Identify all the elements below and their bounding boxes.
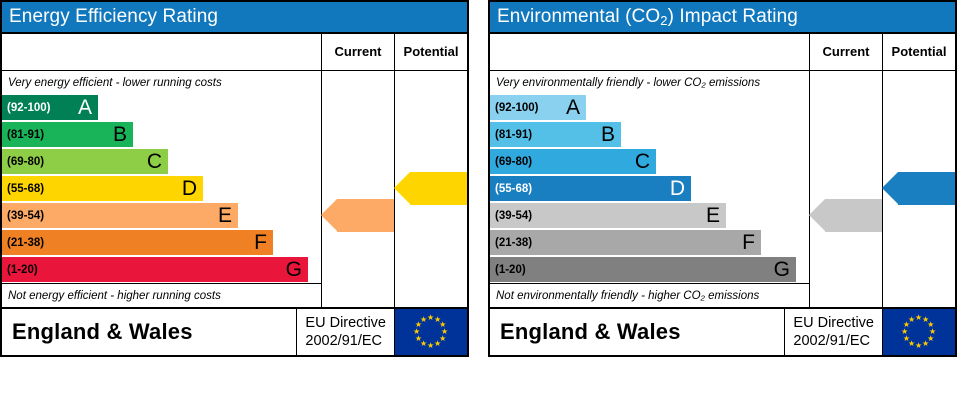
co2-band-letter: E	[706, 205, 720, 226]
eu-star-icon: ★	[420, 316, 427, 324]
co2-band-range: (92-100)	[495, 102, 538, 114]
energy-column-headers: Current Potential	[2, 32, 467, 71]
eu-flag-icon: ★★★★★★★★★★★★	[882, 309, 955, 355]
energy-band-range: (39-54)	[7, 210, 44, 222]
energy-band-a: (92-100)A	[2, 95, 98, 120]
energy-band-row: (92-100)A	[2, 94, 321, 121]
energy-band-row: (1-20)G	[2, 256, 321, 283]
co2-band-range: (39-54)	[495, 210, 532, 222]
co2-band-range: (1-20)	[495, 264, 526, 276]
eu-star-icon: ★	[413, 328, 420, 336]
eu-star-icon: ★	[434, 340, 441, 348]
energy-current-marker-body	[337, 199, 394, 232]
energy-potential-marker: 66	[395, 172, 467, 205]
eu-star-icon: ★	[901, 328, 908, 336]
energy-directive-line2: 2002/91/EC	[305, 332, 386, 350]
co2-chart-title: Environmental (CO2) Impact Rating	[490, 2, 955, 32]
epc-charts-container: Energy Efficiency Rating Current Potenti…	[0, 0, 957, 357]
co2-band-row: (1-20)G	[490, 256, 809, 283]
energy-band-row: (81-91)B	[2, 121, 321, 148]
energy-band-e: (39-54)E	[2, 203, 238, 228]
co2-band-g: (1-20)G	[490, 257, 796, 282]
energy-band-row: (39-54)E	[2, 202, 321, 229]
co2-title-text: Environmental (CO	[497, 6, 660, 27]
co2-band-c: (69-80)C	[490, 149, 656, 174]
energy-current-header: Current	[322, 34, 395, 70]
co2-band-d: (55-68)D	[490, 176, 691, 201]
co2-band-row: (69-80)C	[490, 148, 809, 175]
co2-title-tail: ) Impact Rating	[668, 6, 798, 27]
energy-region-label: England & Wales	[2, 319, 296, 345]
eu-star-icon: ★	[915, 342, 922, 350]
energy-band-range: (81-91)	[7, 129, 44, 141]
co2-potential-marker-body	[898, 172, 955, 205]
co2-potential-header: Potential	[883, 34, 955, 70]
energy-bars-column: Very energy efficient - lower running co…	[2, 71, 322, 307]
co2-directive: EU Directive 2002/91/EC	[784, 309, 882, 355]
co2-band-row: (92-100)A	[490, 94, 809, 121]
co2-potential-column: 59	[883, 71, 955, 307]
co2-band-letter: D	[670, 178, 685, 199]
co2-directive-line1: EU Directive	[793, 314, 874, 332]
energy-band-row: (21-38)F	[2, 229, 321, 256]
energy-band-range: (69-80)	[7, 156, 44, 168]
co2-impact-chart: Environmental (CO2) Impact Rating Curren…	[488, 0, 957, 357]
co2-band-list: (92-100)A(81-91)B(69-80)C(55-68)D(39-54)…	[490, 94, 809, 283]
co2-band-range: (69-80)	[495, 156, 532, 168]
co2-band-row: (81-91)B	[490, 121, 809, 148]
energy-band-f: (21-38)F	[2, 230, 273, 255]
eu-star-icon: ★	[922, 340, 929, 348]
eu-star-icon: ★	[427, 342, 434, 350]
co2-header-spacer	[490, 34, 810, 70]
co2-potential-marker: 59	[883, 172, 955, 205]
energy-band-range: (1-20)	[7, 264, 38, 276]
co2-bottom-note: Not environmentally friendly - higher CO…	[490, 283, 809, 307]
co2-band-letter: A	[566, 97, 580, 118]
co2-body: Very environmentally friendly - lower CO…	[490, 71, 955, 307]
energy-current-column: 53	[322, 71, 395, 307]
co2-band-row: (21-38)F	[490, 229, 809, 256]
co2-band-b: (81-91)B	[490, 122, 621, 147]
energy-band-letter: G	[286, 259, 302, 280]
co2-band-f: (21-38)F	[490, 230, 761, 255]
co2-directive-line2: 2002/91/EC	[793, 332, 874, 350]
energy-body: Very energy efficient - lower running co…	[2, 71, 467, 307]
energy-band-letter: C	[147, 151, 162, 172]
co2-column-headers: Current Potential	[490, 32, 955, 71]
energy-header-spacer	[2, 34, 322, 70]
energy-band-range: (92-100)	[7, 102, 50, 114]
co2-current-marker-body	[825, 199, 882, 232]
energy-current-marker: 53	[322, 199, 394, 232]
eu-star-icon: ★	[415, 335, 422, 343]
co2-band-letter: G	[774, 259, 790, 280]
energy-potential-header: Potential	[395, 34, 467, 70]
co2-region-label: England & Wales	[490, 319, 784, 345]
co2-current-header: Current	[810, 34, 883, 70]
co2-band-letter: F	[742, 232, 755, 253]
co2-band-row: (55-68)D	[490, 175, 809, 202]
energy-efficiency-chart: Energy Efficiency Rating Current Potenti…	[0, 0, 469, 357]
energy-potential-column: 66	[395, 71, 467, 307]
energy-band-row: (69-80)C	[2, 148, 321, 175]
energy-top-note: Very energy efficient - lower running co…	[2, 71, 321, 94]
co2-current-column: 47	[810, 71, 883, 307]
energy-band-range: (55-68)	[7, 183, 44, 195]
co2-band-e: (39-54)E	[490, 203, 726, 228]
energy-band-row: (55-68)D	[2, 175, 321, 202]
energy-chart-title: Energy Efficiency Rating	[2, 2, 467, 32]
energy-band-b: (81-91)B	[2, 122, 133, 147]
energy-potential-marker-body	[410, 172, 467, 205]
energy-potential-marker-arrow	[394, 172, 410, 204]
energy-band-letter: A	[78, 97, 92, 118]
energy-directive-line1: EU Directive	[305, 314, 386, 332]
co2-band-range: (55-68)	[495, 183, 532, 195]
eu-star-icon: ★	[903, 335, 910, 343]
co2-band-a: (92-100)A	[490, 95, 586, 120]
energy-band-g: (1-20)G	[2, 257, 308, 282]
co2-top-note: Very environmentally friendly - lower CO…	[490, 71, 809, 94]
eu-flag-icon: ★★★★★★★★★★★★	[394, 309, 467, 355]
energy-band-letter: D	[182, 178, 197, 199]
energy-band-c: (69-80)C	[2, 149, 168, 174]
energy-bottom-note: Not energy efficient - higher running co…	[2, 283, 321, 307]
energy-band-range: (21-38)	[7, 237, 44, 249]
co2-title-subscript: 2	[660, 13, 667, 28]
energy-band-d: (55-68)D	[2, 176, 203, 201]
co2-current-marker-arrow	[809, 199, 825, 231]
energy-directive: EU Directive 2002/91/EC	[296, 309, 394, 355]
co2-potential-marker-arrow	[882, 172, 898, 204]
co2-band-range: (21-38)	[495, 237, 532, 249]
co2-band-letter: C	[635, 151, 650, 172]
energy-band-letter: F	[254, 232, 267, 253]
energy-current-marker-arrow	[321, 199, 337, 231]
energy-band-list: (92-100)A(81-91)B(69-80)C(55-68)D(39-54)…	[2, 94, 321, 283]
eu-star-icon: ★	[908, 316, 915, 324]
energy-band-letter: B	[113, 124, 127, 145]
co2-band-row: (39-54)E	[490, 202, 809, 229]
energy-band-letter: E	[218, 205, 232, 226]
co2-bars-column: Very environmentally friendly - lower CO…	[490, 71, 810, 307]
co2-footer: England & Wales EU Directive 2002/91/EC …	[490, 307, 955, 355]
co2-current-marker: 47	[810, 199, 882, 232]
energy-title-text: Energy Efficiency Rating	[9, 6, 218, 27]
co2-band-letter: B	[601, 124, 615, 145]
co2-band-range: (81-91)	[495, 129, 532, 141]
energy-footer: England & Wales EU Directive 2002/91/EC …	[2, 307, 467, 355]
